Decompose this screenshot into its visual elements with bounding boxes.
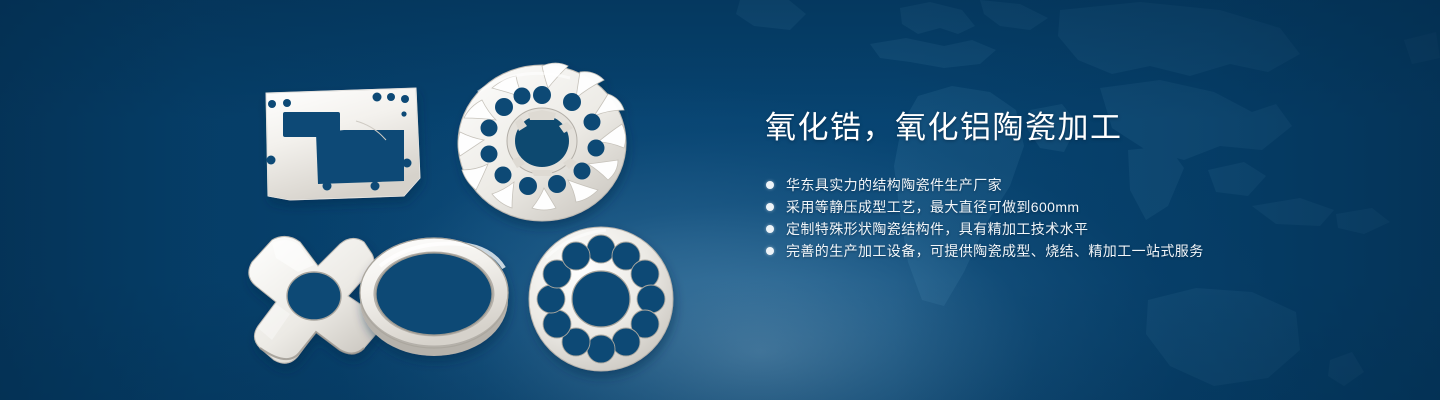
banner-copy: 氧化锆，氧化铝陶瓷加工 华东具实力的结构陶瓷件生产厂家 采用等静压成型工艺，最大… xyxy=(765,108,1365,262)
feature-item-4: 完善的生产加工设备，可提供陶瓷成型、烧结、精加工一站式服务 xyxy=(765,240,1365,262)
feature-item-label: 定制特殊形状陶瓷结构件，具有精加工技术水平 xyxy=(786,221,1088,237)
bullet-dot-icon xyxy=(766,225,774,233)
bullet-dot-icon xyxy=(766,247,774,255)
feature-item-label: 采用等静压成型工艺，最大直径可做到600mm xyxy=(786,199,1079,215)
feature-item-3: 定制特殊形状陶瓷结构件，具有精加工技术水平 xyxy=(765,218,1365,240)
feature-item-2: 采用等静压成型工艺，最大直径可做到600mm xyxy=(765,196,1365,218)
page-title: 氧化锆，氧化铝陶瓷加工 xyxy=(765,108,1365,148)
feature-list: 华东具实力的结构陶瓷件生产厂家 采用等静压成型工艺，最大直径可做到600mm 定… xyxy=(765,174,1365,262)
hero-banner: 氧化锆，氧化铝陶瓷加工 华东具实力的结构陶瓷件生产厂家 采用等静压成型工艺，最大… xyxy=(0,0,1440,400)
bullet-dot-icon xyxy=(766,203,774,211)
feature-item-1: 华东具实力的结构陶瓷件生产厂家 xyxy=(765,174,1365,196)
bullet-dot-icon xyxy=(766,181,774,189)
feature-item-label: 华东具实力的结构陶瓷件生产厂家 xyxy=(786,177,1002,193)
feature-item-label: 完善的生产加工设备，可提供陶瓷成型、烧结、精加工一站式服务 xyxy=(786,243,1204,259)
